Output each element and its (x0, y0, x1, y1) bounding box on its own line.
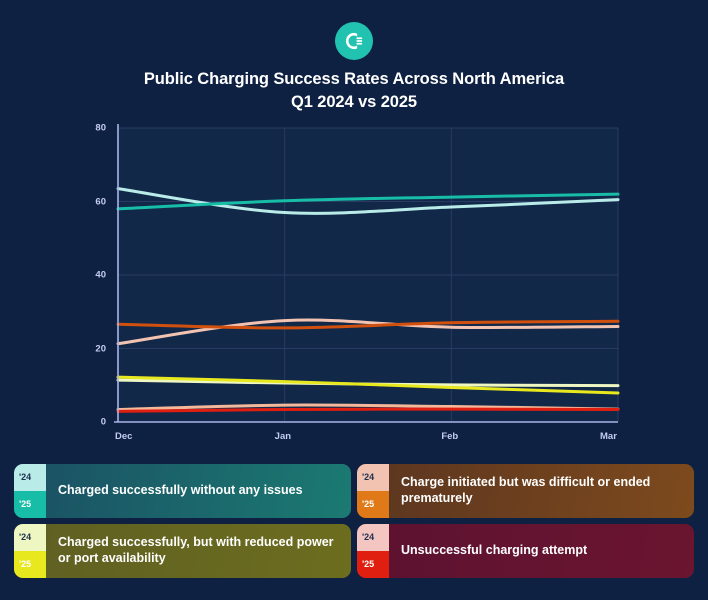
legend-item-label: Charge initiated but was difficult or en… (389, 464, 694, 518)
chart-legend: '24'25Charged successfully without any i… (14, 464, 694, 578)
legend-item-label: Charged successfully, but with reduced p… (46, 524, 351, 578)
legend-swatch-2024: '24 (14, 524, 46, 551)
legend-swatch-2024: '24 (357, 524, 389, 551)
page-title: Public Charging Success Rates Across Nor… (0, 68, 708, 115)
title-line-1: Public Charging Success Rates Across Nor… (0, 68, 708, 91)
legend-color-swatch: '24'25 (357, 464, 389, 518)
legend-item[interactable]: '24'25Charge initiated but was difficult… (357, 464, 694, 518)
legend-color-swatch: '24'25 (14, 524, 46, 578)
y-axis-tick-label: 80 (95, 123, 106, 134)
legend-item[interactable]: '24'25Charged successfully, but with red… (14, 524, 351, 578)
x-axis-tick-label: Mar (600, 431, 617, 442)
legend-color-swatch: '24'25 (357, 524, 389, 578)
legend-swatch-2025: '25 (357, 551, 389, 578)
chart-page: Public Charging Success Rates Across Nor… (0, 0, 708, 600)
x-axis-labels: DecJanFebMar (100, 431, 630, 447)
legend-item[interactable]: '24'25Unsuccessful charging attempt (357, 524, 694, 578)
y-axis-tick-label: 60 (95, 196, 106, 207)
legend-item-label: Charged successfully without any issues (46, 464, 351, 518)
x-axis-tick-label: Jan (275, 431, 291, 442)
ev-charger-plug-icon (343, 30, 365, 52)
y-axis-tick-label: 20 (95, 343, 106, 354)
legend-swatch-2025: '25 (14, 491, 46, 518)
chart-plot-area (110, 122, 620, 430)
x-axis-tick-label: Feb (441, 431, 458, 442)
legend-swatch-2024: '24 (14, 464, 46, 491)
brand-logo (335, 22, 373, 60)
legend-item-label: Unsuccessful charging attempt (389, 524, 694, 578)
x-axis-tick-label: Dec (115, 431, 132, 442)
y-axis-tick-label: 0 (101, 417, 106, 428)
title-line-2: Q1 2024 vs 2025 (0, 91, 708, 114)
legend-color-swatch: '24'25 (14, 464, 46, 518)
y-axis-tick-label: 40 (95, 270, 106, 281)
brand-logo-container (0, 22, 708, 60)
legend-swatch-2024: '24 (357, 464, 389, 491)
legend-item[interactable]: '24'25Charged successfully without any i… (14, 464, 351, 518)
y-axis-labels: 020406080 (78, 114, 106, 438)
line-chart (110, 122, 620, 430)
legend-swatch-2025: '25 (357, 491, 389, 518)
legend-swatch-2025: '25 (14, 551, 46, 578)
